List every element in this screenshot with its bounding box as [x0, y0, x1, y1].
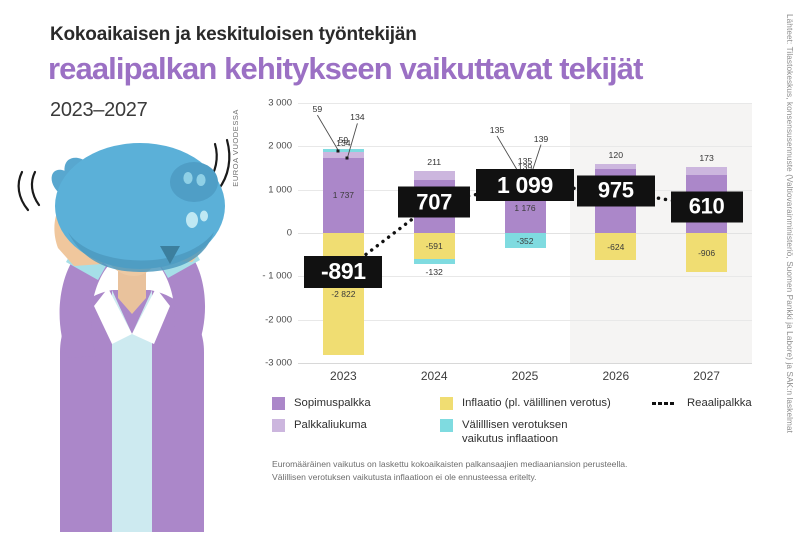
y-axis-title: EUROA VUODESSA [231, 109, 240, 187]
bar-segment: -591 [414, 233, 455, 259]
bar-segment [414, 171, 455, 180]
bar-value-label: 135 [518, 156, 533, 166]
callout-marker [346, 156, 349, 159]
y-tick-label: -3 000 [246, 358, 292, 369]
callout-marker [337, 149, 340, 152]
bar-segment [414, 259, 455, 265]
plot-area: 1 737-2 822134591 219-591211-1321 176-35… [298, 103, 752, 363]
legend-color-swatch [440, 419, 453, 432]
illustration-man-with-piggybank [8, 120, 253, 533]
footnote-line: Euromääräinen vaikutus on laskettu kokoa… [272, 458, 702, 471]
bar-segment: -624 [595, 233, 636, 260]
motion-lines-left [19, 172, 39, 210]
callout-134: 134 [350, 112, 365, 122]
legend-item[interactable]: Välilllisen verotuksen vaikutus inflaati… [440, 418, 590, 446]
page-title: reaalipalkan kehitykseen vaikuttavat tek… [48, 52, 738, 86]
y-tick-label: 1 000 [246, 184, 292, 195]
bar-segment: -2 822 [323, 233, 364, 355]
y-tick-label: -2 000 [246, 314, 292, 325]
reaalipalkka-value-box: -891 [304, 256, 382, 288]
bar-segment: -352 [505, 233, 546, 248]
chart-legend: SopimuspalkkaPalkkaliukumaInflaatio (pl.… [272, 396, 742, 452]
legend-dotted-line-icon [652, 397, 678, 410]
bar-segment [686, 167, 727, 174]
legend-item[interactable]: Reaalipalkka [652, 396, 800, 410]
year-range-subtitle: 2023–2027 [50, 99, 147, 122]
reaalipalkka-value-box: 1 099 [476, 169, 574, 201]
bar-value-label: 59 [339, 135, 349, 145]
gridline [298, 146, 752, 147]
footnote-line: Välillisen verotuksen vaikutusta inflaat… [272, 471, 702, 484]
source-credit: Lähteet: Tilastokeskus, konsensusennuste… [780, 14, 798, 514]
bar-value-label: 120 [609, 150, 624, 160]
infographic-root: Kokoaikaisen ja keskituloisen työntekijä… [0, 0, 800, 533]
piggy-snout [170, 162, 218, 202]
gridline [298, 103, 752, 104]
legend-label: Sopimuspalkka [294, 396, 371, 410]
callout-leader-line [497, 136, 519, 173]
legend-item[interactable]: Sopimuspalkka [272, 396, 432, 410]
callout-139: 139 [534, 134, 549, 144]
x-tick-label: 2023 [330, 369, 357, 383]
y-tick-label: 0 [246, 228, 292, 239]
x-tick-label: 2026 [602, 369, 629, 383]
y-tick-label: 2 000 [246, 141, 292, 152]
callout-135: 135 [490, 125, 505, 135]
y-tick-label: - 1 000 [246, 271, 292, 282]
legend-label: Inflaatio (pl. välillinen verotus) [462, 396, 611, 410]
legend-color-swatch [440, 397, 453, 410]
callout-59: 59 [313, 104, 323, 114]
legend-color-swatch [272, 419, 285, 432]
bar-segment [595, 164, 636, 169]
bar-segment [323, 149, 364, 152]
bar-value-label: -132 [425, 267, 442, 277]
x-tick-label: 2025 [512, 369, 539, 383]
legend-item[interactable]: Inflaatio (pl. välillinen verotus) [440, 396, 640, 410]
chart-container: EUROA VUODESSA 3 0002 0001 0000- 1 000-2… [232, 103, 752, 393]
x-tick-label: 2027 [693, 369, 720, 383]
legend-label: Palkkaliukuma [294, 418, 367, 432]
bar-value-label: 173 [699, 153, 714, 163]
footnote: Euromääräinen vaikutus on laskettu kokoa… [272, 458, 702, 484]
reaalipalkka-value-box: 975 [577, 175, 655, 206]
bar-segment [323, 152, 364, 158]
x-tick-label: 2024 [421, 369, 448, 383]
y-tick-label: 3 000 [246, 98, 292, 109]
reaalipalkka-value-box: 610 [671, 191, 743, 222]
legend-item[interactable]: Palkkaliukuma [272, 418, 432, 432]
bar-value-label: 211 [427, 157, 441, 167]
kicker-heading: Kokoaikaisen ja keskituloisen työntekijä… [50, 24, 710, 46]
gridline [298, 320, 752, 321]
bar-segment: 1 737 [323, 158, 364, 233]
y-axis-ticks: 3 0002 0001 0000- 1 000-2 000-3 000 [246, 103, 292, 393]
reaalipalkka-value-box: 707 [398, 187, 470, 218]
legend-label: Välilllisen verotuksen vaikutus inflaati… [462, 418, 590, 446]
x-axis-line [298, 363, 752, 364]
legend-color-swatch [272, 397, 285, 410]
legend-label: Reaalipalkka [687, 396, 752, 410]
bar-segment: -906 [686, 233, 727, 272]
